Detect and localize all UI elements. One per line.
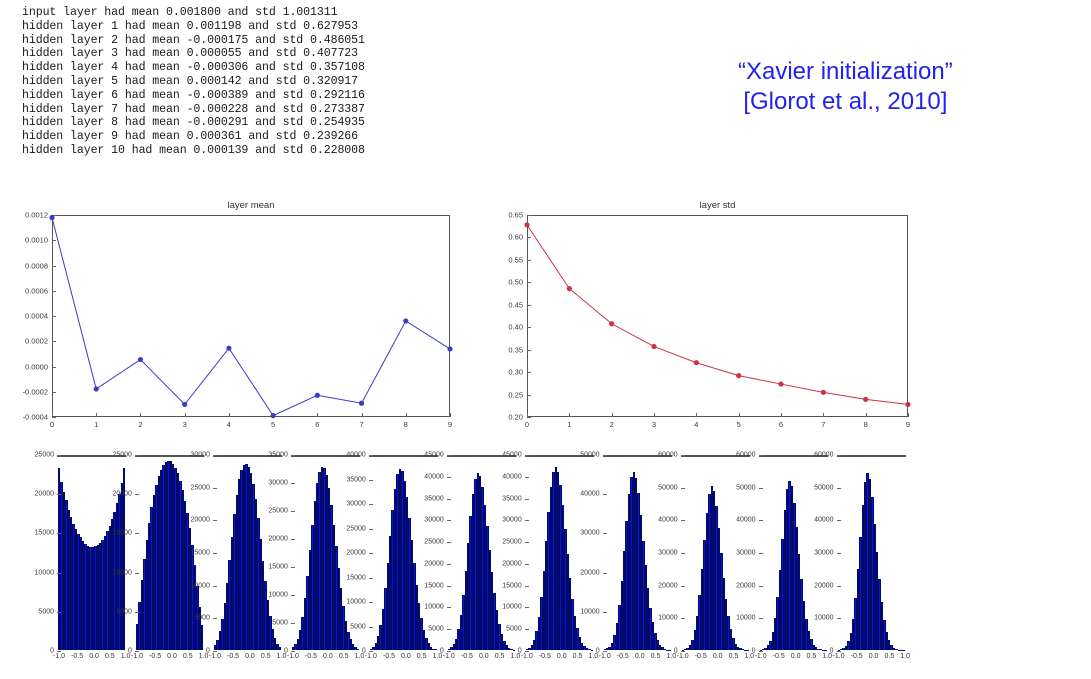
histogram-y-tick-mark	[447, 499, 451, 500]
histogram-x-tick-label: 0.0	[323, 653, 333, 660]
x-tick-label: 7	[821, 420, 825, 429]
histogram-y-tick-mark	[213, 455, 217, 456]
histogram-y-tick-label: 10000	[658, 615, 677, 622]
histogram-y-tick-mark	[135, 651, 139, 652]
histogram-y-tick-mark	[369, 578, 373, 579]
histogram-y-tick-mark	[369, 602, 373, 603]
histogram-y-tick-mark	[837, 553, 841, 554]
x-tick-label: 6	[315, 420, 319, 429]
histogram-y-tick-mark	[759, 553, 763, 554]
histogram-y-tick-label: 40000	[346, 452, 365, 459]
histogram-y-tick-label: 5000	[194, 615, 210, 622]
histogram-y-tick-mark	[837, 520, 841, 521]
histogram-x-tick-label: -1.0	[131, 653, 143, 660]
chart-series-layer-std	[527, 215, 908, 417]
histogram-y-tick-label: 35000	[346, 476, 365, 483]
histogram-y-tick-label: 35000	[424, 495, 443, 502]
histogram-y-tick-mark	[447, 520, 451, 521]
histogram-y-tick-mark	[447, 477, 451, 478]
x-tick-label: 8	[864, 420, 868, 429]
histogram-y-tick-mark	[525, 586, 529, 587]
histogram-y-tick-label: 35000	[502, 495, 521, 502]
histogram-y-tick-mark	[369, 504, 373, 505]
histogram-y-tick-mark	[759, 618, 763, 619]
histogram-y-tick-mark	[447, 542, 451, 543]
histogram-x-tick-label: -0.5	[851, 653, 863, 660]
console-line: hidden layer 8 had mean -0.000291 and st…	[22, 116, 365, 130]
histogram-y-tick-mark	[525, 607, 529, 608]
histogram-y-tick-mark	[837, 618, 841, 619]
histogram-y-tick-mark	[681, 553, 685, 554]
histogram-y-tick-mark	[57, 533, 61, 534]
histogram-x-tick-label: 0.5	[729, 653, 739, 660]
histogram-y-tick-mark	[369, 529, 373, 530]
histogram-y-tick-mark	[603, 533, 607, 534]
data-point	[567, 286, 572, 291]
histogram-y-tick-label: 15000	[424, 582, 443, 589]
data-point	[736, 373, 741, 378]
histogram-y-tick-mark	[525, 477, 529, 478]
console-line: hidden layer 7 had mean -0.000228 and st…	[22, 103, 365, 117]
histogram-y-tick-label: 5000	[506, 626, 522, 633]
histogram-x-tick-label: 0.5	[105, 653, 115, 660]
annotation-xavier-initialization: “Xavier initialization” [Glorot et al., …	[738, 57, 953, 117]
histogram-panel: 0500010000150002000025000300003500040000…	[525, 455, 594, 651]
histogram-x-tick-label: 0.5	[261, 653, 271, 660]
histogram-y-tick-mark	[837, 488, 841, 489]
y-tick-label: 0.0004	[25, 312, 48, 321]
histogram-bar	[279, 647, 281, 650]
x-tick-label: 7	[359, 420, 363, 429]
x-tick-label: 2	[138, 420, 142, 429]
x-tick-label: 4	[227, 420, 231, 429]
x-tick-label: 1	[567, 420, 571, 429]
histogram-y-tick-mark	[603, 573, 607, 574]
histogram-y-tick-mark	[213, 553, 217, 554]
histogram-y-tick-label: 30000	[658, 550, 677, 557]
histogram-y-tick-label: 10000	[424, 604, 443, 611]
histogram-y-tick-label: 10000	[112, 569, 131, 576]
x-tick-label: 2	[610, 420, 614, 429]
histogram-x-labels: -1.0-0.50.00.51.0	[209, 653, 286, 660]
x-tick-label: 3	[652, 420, 656, 429]
histogram-x-tick-label: -1.0	[599, 653, 611, 660]
histogram-y-tick-mark	[135, 494, 139, 495]
data-point	[694, 360, 699, 365]
x-tick-label: 9	[448, 420, 452, 429]
histogram-panel: 0500010000150002000025000300003500040000…	[447, 455, 516, 651]
x-tick-label: 1	[94, 420, 98, 429]
histogram-y-tick-label: 5000	[272, 620, 288, 627]
histogram-y-tick-label: 25000	[112, 452, 131, 459]
histogram-y-tick-label: 20000	[190, 517, 209, 524]
histogram-x-tick-label: -0.5	[695, 653, 707, 660]
console-line: hidden layer 10 had mean 0.000139 and st…	[22, 144, 365, 158]
console-line: hidden layer 2 had mean -0.000175 and st…	[22, 34, 365, 48]
histogram-y-tick-mark	[603, 494, 607, 495]
histogram-x-tick-label: -1.0	[833, 653, 845, 660]
histogram-y-tick-label: 20000	[112, 491, 131, 498]
histogram-y-tick-label: 20000	[346, 550, 365, 557]
histogram-y-tick-label: 40000	[580, 491, 599, 498]
data-point	[609, 321, 614, 326]
histogram-y-tick-mark	[603, 612, 607, 613]
histogram-y-tick-label: 20000	[658, 582, 677, 589]
y-tick-mark	[52, 417, 56, 418]
y-tick-label: 0.45	[508, 300, 523, 309]
data-point	[94, 386, 99, 391]
y-tick-label: 0.30	[508, 368, 523, 377]
histogram-bars	[58, 456, 125, 650]
histogram-y-tick-label: 25000	[190, 484, 209, 491]
data-point	[359, 401, 364, 406]
annotation-line-2: [Glorot et al., 2010]	[738, 87, 953, 117]
x-tick-label: 0	[50, 420, 54, 429]
y-tick-label: -0.0004	[23, 413, 48, 422]
console-line: hidden layer 5 had mean 0.000142 and std…	[22, 75, 365, 89]
histogram-x-tick-label: 0.5	[417, 653, 427, 660]
histogram-x-tick-label: -0.5	[461, 653, 473, 660]
histogram-x-labels: -1.0-0.50.00.51.0	[521, 653, 598, 660]
histogram-y-tick-mark	[603, 651, 607, 652]
histogram-bars	[448, 456, 515, 650]
histogram-y-tick-label: 10000	[502, 604, 521, 611]
data-point	[403, 318, 408, 323]
y-tick-label: 0.20	[508, 413, 523, 422]
histogram-y-tick-label: 30000	[424, 517, 443, 524]
histogram-x-tick-label: 0.0	[557, 653, 567, 660]
histogram-y-tick-mark	[57, 651, 61, 652]
histogram-y-tick-label: 30000	[814, 550, 833, 557]
histogram-y-tick-label: 10000	[268, 592, 287, 599]
histogram-y-tick-label: 20000	[424, 560, 443, 567]
histogram-x-tick-label: 0.5	[884, 653, 894, 660]
data-point	[651, 344, 656, 349]
histogram-y-tick-label: 25000	[346, 525, 365, 532]
histogram-bar	[201, 625, 203, 650]
histogram-y-tick-label: 20000	[268, 536, 287, 543]
histogram-x-tick-label: 0.0	[245, 653, 255, 660]
histogram-y-tick-label: 15000	[112, 530, 131, 537]
histogram-y-tick-mark	[135, 533, 139, 534]
y-tick-label: 0.50	[508, 278, 523, 287]
histogram-y-tick-mark	[525, 629, 529, 630]
histogram-y-tick-label: 15000	[268, 564, 287, 571]
histogram-y-tick-mark	[525, 542, 529, 543]
histogram-y-tick-mark	[525, 499, 529, 500]
x-tick-label: 0	[525, 420, 529, 429]
chart-series-layer-mean	[52, 215, 450, 417]
y-tick-label: 0.65	[508, 211, 523, 220]
histogram-y-tick-label: 25000	[268, 508, 287, 515]
chart-layer-mean: layer mean -0.0004-0.00020.00000.00020.0…	[52, 215, 450, 417]
histogram-y-tick-label: 25000	[424, 539, 443, 546]
histogram-bars	[370, 456, 437, 650]
histogram-x-tick-label: -1.0	[755, 653, 767, 660]
histogram-y-tick-label: 60000	[736, 452, 755, 459]
histogram-x-labels: -1.0-0.50.00.51.0	[677, 653, 754, 660]
histogram-x-labels: -1.0-0.50.00.51.0	[599, 653, 676, 660]
histogram-y-tick-mark	[681, 455, 685, 456]
histogram-y-tick-label: 25000	[502, 539, 521, 546]
histogram-x-tick-label: -0.5	[617, 653, 629, 660]
histogram-y-tick-mark	[135, 612, 139, 613]
histogram-y-tick-label: 40000	[814, 517, 833, 524]
histogram-y-tick-label: 10000	[736, 615, 755, 622]
histogram-bars	[526, 456, 593, 650]
y-tick-label: 0.35	[508, 345, 523, 354]
histogram-y-tick-mark	[759, 586, 763, 587]
y-tick-label: -0.0002	[23, 387, 48, 396]
histogram-panel: 0500010000150002000025000300003500040000…	[369, 455, 438, 651]
histogram-x-tick-label: 0.5	[807, 653, 817, 660]
histogram-y-tick-label: 10000	[346, 599, 365, 606]
histogram-y-tick-label: 5000	[116, 608, 132, 615]
histogram-y-tick-mark	[603, 455, 607, 456]
histogram-y-tick-label: 30000	[580, 530, 599, 537]
histogram-y-tick-label: 5000	[350, 623, 366, 630]
y-tick-label: 0.0008	[25, 261, 48, 270]
histogram-y-tick-mark	[681, 618, 685, 619]
histogram-y-tick-mark	[837, 455, 841, 456]
x-tick-mark	[450, 413, 451, 417]
histogram-y-tick-mark	[369, 627, 373, 628]
histogram-y-tick-mark	[291, 483, 295, 484]
histogram-y-tick-label: 20000	[580, 569, 599, 576]
data-point	[315, 393, 320, 398]
console-line: hidden layer 6 had mean -0.000389 and st…	[22, 89, 365, 103]
histogram-y-tick-mark	[447, 607, 451, 608]
histogram-y-tick-label: 15000	[502, 582, 521, 589]
histogram-y-tick-label: 50000	[814, 484, 833, 491]
histogram-x-labels: -1.0-0.50.00.51.0	[443, 653, 520, 660]
histogram-y-tick-mark	[681, 488, 685, 489]
histogram-y-tick-mark	[369, 480, 373, 481]
data-point	[524, 222, 529, 227]
data-point	[778, 381, 783, 386]
histogram-y-tick-label: 10000	[580, 608, 599, 615]
histogram-x-tick-label: 0.0	[791, 653, 801, 660]
histogram-y-tick-label: 45000	[424, 452, 443, 459]
histogram-y-tick-label: 30000	[346, 501, 365, 508]
y-tick-label: 0.0012	[25, 211, 48, 220]
histogram-x-tick-label: 0.5	[339, 653, 349, 660]
histogram-y-tick-mark	[447, 651, 451, 652]
histogram-y-tick-mark	[447, 629, 451, 630]
histogram-y-tick-label: 30000	[268, 480, 287, 487]
histogram-y-tick-mark	[57, 612, 61, 613]
histogram-y-tick-mark	[213, 488, 217, 489]
data-point	[447, 346, 452, 351]
histogram-y-tick-mark	[369, 553, 373, 554]
histogram-x-tick-label: -1.0	[53, 653, 65, 660]
histogram-x-tick-label: -1.0	[521, 653, 533, 660]
y-tick-label: 0.40	[508, 323, 523, 332]
x-tick-label: 3	[183, 420, 187, 429]
histogram-panel: 0500010000150002000025000-1.0-0.50.00.51…	[57, 455, 126, 651]
histogram-x-labels: -1.0-0.50.00.51.0	[365, 653, 442, 660]
histogram-y-tick-mark	[57, 494, 61, 495]
histogram-y-tick-label: 40000	[736, 517, 755, 524]
histogram-y-tick-mark	[135, 455, 139, 456]
histogram-bars	[838, 456, 905, 650]
histogram-y-tick-label: 50000	[580, 452, 599, 459]
histogram-y-tick-mark	[525, 455, 529, 456]
histogram-x-labels: -1.0-0.50.00.51.0	[131, 653, 208, 660]
console-line: hidden layer 1 had mean 0.001198 and std…	[22, 20, 365, 34]
histogram-y-tick-mark	[759, 520, 763, 521]
console-line: hidden layer 9 had mean 0.000361 and std…	[22, 130, 365, 144]
histogram-y-tick-mark	[369, 455, 373, 456]
histogram-x-labels: -1.0-0.50.00.51.0	[53, 653, 130, 660]
x-tick-mark	[908, 413, 909, 417]
x-tick-label: 8	[404, 420, 408, 429]
histogram-y-tick-label: 15000	[35, 530, 54, 537]
histogram-y-tick-label: 40000	[502, 473, 521, 480]
histogram-x-tick-label: -0.5	[305, 653, 317, 660]
y-tick-label: 0.25	[508, 390, 523, 399]
histogram-y-tick-label: 10000	[814, 615, 833, 622]
histogram-x-tick-label: 0.0	[713, 653, 723, 660]
histogram-x-tick-label: 1.0	[900, 653, 910, 660]
histogram-x-tick-label: 0.5	[495, 653, 505, 660]
histogram-y-tick-label: 50000	[658, 484, 677, 491]
histogram-y-tick-mark	[447, 564, 451, 565]
histogram-x-tick-label: 0.5	[183, 653, 193, 660]
histogram-y-tick-mark	[837, 651, 841, 652]
histogram-x-tick-label: -1.0	[209, 653, 221, 660]
data-point	[863, 397, 868, 402]
histogram-y-tick-mark	[291, 623, 295, 624]
histogram-x-tick-label: 0.0	[479, 653, 489, 660]
histogram-x-tick-label: -0.5	[149, 653, 161, 660]
histogram-x-tick-label: -1.0	[677, 653, 689, 660]
histogram-y-tick-label: 30000	[190, 452, 209, 459]
console-line: input layer had mean 0.001800 and std 1.…	[22, 6, 365, 20]
histogram-y-tick-mark	[525, 564, 529, 565]
histogram-y-tick-mark	[135, 573, 139, 574]
histogram-y-tick-mark	[759, 455, 763, 456]
x-tick-label: 9	[906, 420, 910, 429]
console-line: hidden layer 3 had mean 0.000055 and std…	[22, 47, 365, 61]
histogram-y-tick-mark	[369, 651, 373, 652]
histogram-y-tick-mark	[447, 455, 451, 456]
y-tick-label: 0.0002	[25, 337, 48, 346]
histogram-y-tick-mark	[291, 651, 295, 652]
histogram-y-tick-mark	[681, 586, 685, 587]
histogram-y-tick-mark	[525, 520, 529, 521]
histogram-y-tick-label: 40000	[424, 473, 443, 480]
histogram-x-tick-label: -1.0	[443, 653, 455, 660]
y-tick-label: 0.0000	[25, 362, 48, 371]
x-tick-label: 5	[737, 420, 741, 429]
histogram-y-tick-label: 30000	[736, 550, 755, 557]
data-point	[905, 402, 910, 407]
chart-layer-std: layer std 0.200.250.300.350.400.450.500.…	[527, 215, 908, 417]
x-tick-label: 4	[694, 420, 698, 429]
histogram-x-labels: -1.0-0.50.00.51.0	[755, 653, 832, 660]
annotation-line-1: “Xavier initialization”	[738, 57, 953, 87]
histogram-y-tick-label: 40000	[658, 517, 677, 524]
histogram-x-tick-label: 0.0	[167, 653, 177, 660]
data-point	[49, 215, 54, 220]
histogram-y-tick-label: 5000	[38, 608, 54, 615]
histogram-y-tick-mark	[291, 595, 295, 596]
histogram-y-tick-label: 10000	[190, 582, 209, 589]
histogram-y-tick-label: 20000	[814, 582, 833, 589]
histogram-y-tick-mark	[291, 567, 295, 568]
histogram-y-tick-mark	[759, 488, 763, 489]
console-line: hidden layer 4 had mean -0.000306 and st…	[22, 61, 365, 75]
histogram-x-tick-label: -0.5	[227, 653, 239, 660]
histogram-y-tick-mark	[525, 651, 529, 652]
histogram-y-tick-mark	[759, 651, 763, 652]
y-tick-label: 0.55	[508, 255, 523, 264]
histogram-y-tick-label: 15000	[346, 574, 365, 581]
histogram-y-tick-label: 45000	[502, 452, 521, 459]
x-tick-label: 6	[779, 420, 783, 429]
histogram-y-tick-mark	[291, 539, 295, 540]
histogram-y-tick-label: 10000	[35, 569, 54, 576]
chart-layer-std-title: layer std	[527, 200, 908, 211]
data-point	[226, 346, 231, 351]
histogram-y-tick-mark	[681, 651, 685, 652]
histogram-y-tick-label: 20000	[35, 491, 54, 498]
data-point	[182, 402, 187, 407]
histogram-y-tick-label: 35000	[268, 452, 287, 459]
histogram-y-tick-mark	[291, 455, 295, 456]
histogram-x-tick-label: -1.0	[287, 653, 299, 660]
histogram-y-tick-mark	[57, 455, 61, 456]
histogram-y-tick-mark	[57, 573, 61, 574]
histogram-bar	[357, 649, 359, 650]
histogram-y-tick-mark	[213, 651, 217, 652]
histogram-x-labels: -1.0-0.50.00.51.0	[287, 653, 364, 660]
console-output-text: input layer had mean 0.001800 and std 1.…	[22, 6, 365, 158]
histogram-y-tick-label: 60000	[658, 452, 677, 459]
histogram-x-tick-label: 0.0	[869, 653, 879, 660]
chart-layer-mean-title: layer mean	[52, 200, 450, 211]
y-tick-mark	[527, 417, 531, 418]
histogram-y-tick-label: 50000	[736, 484, 755, 491]
histogram-x-tick-label: 0.5	[573, 653, 583, 660]
x-tick-label: 5	[271, 420, 275, 429]
y-tick-label: 0.0010	[25, 236, 48, 245]
histogram-x-labels: -1.0-0.50.00.51.0	[833, 653, 910, 660]
histogram-y-tick-label: 25000	[35, 452, 54, 459]
histogram-y-tick-mark	[213, 618, 217, 619]
histogram-y-tick-label: 20000	[502, 560, 521, 567]
y-tick-label: 0.0006	[25, 286, 48, 295]
histogram-y-tick-mark	[291, 511, 295, 512]
histogram-x-tick-label: -0.5	[71, 653, 83, 660]
histogram-y-tick-mark	[447, 586, 451, 587]
data-point	[271, 413, 276, 418]
histogram-x-tick-label: 0.5	[651, 653, 661, 660]
histogram-y-tick-label: 30000	[502, 517, 521, 524]
histogram-panel: 0100002000030000400005000060000-1.0-0.50…	[837, 455, 906, 651]
y-tick-label: 0.60	[508, 233, 523, 242]
histogram-y-tick-mark	[681, 520, 685, 521]
histogram-y-tick-label: 5000	[428, 626, 444, 633]
histogram-x-tick-label: 0.0	[401, 653, 411, 660]
data-point	[138, 357, 143, 362]
histogram-bar	[435, 649, 437, 650]
histogram-y-tick-mark	[213, 520, 217, 521]
histogram-x-tick-label: -0.5	[773, 653, 785, 660]
histogram-x-tick-label: 0.0	[635, 653, 645, 660]
histogram-x-tick-label: -0.5	[539, 653, 551, 660]
